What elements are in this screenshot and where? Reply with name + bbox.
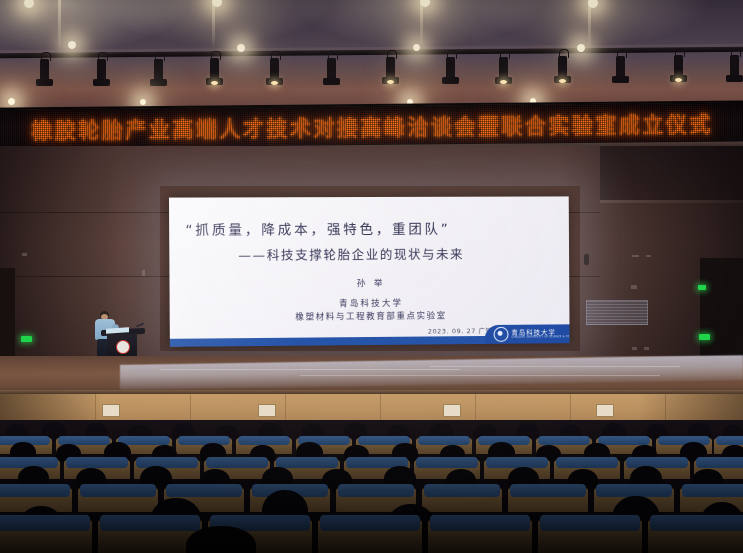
wall-fitting	[632, 255, 639, 257]
lamp-body	[558, 56, 567, 78]
stage-spotlight	[325, 56, 338, 90]
seat-cushion	[556, 457, 618, 468]
seat-cushion	[540, 515, 640, 531]
lamp-glow	[675, 78, 682, 82]
led-banner: 橡胶轮胎产业高端人才技术对接高峰洽谈会暨联合实验室成立仪式	[0, 100, 743, 151]
ceiling-spot-light	[577, 44, 585, 52]
seat-cushion	[0, 515, 90, 531]
seat-cushion	[430, 515, 530, 531]
seat-cushion	[416, 457, 478, 468]
stage-spotlight	[38, 57, 51, 91]
seat-cushion	[538, 436, 590, 445]
presentation-slide: “抓质量，降成本，强特色，重团队” ——科技支撑轮胎企业的现状与未来 孙 举 青…	[169, 196, 570, 346]
stage-spotlight	[384, 55, 397, 89]
floor-streak	[300, 375, 660, 376]
seat-cushion	[136, 457, 198, 468]
seat-cushion	[486, 457, 548, 468]
lamp-lens	[36, 79, 53, 86]
stage-spotlight	[728, 53, 741, 87]
projection-screen: “抓质量，降成本，强特色，重团队” ——科技支撑轮胎企业的现状与未来 孙 举 青…	[169, 196, 570, 346]
seat-cushion	[696, 457, 743, 468]
seat-cushion	[510, 484, 586, 497]
light-beam	[58, 0, 61, 52]
seat-cushion	[338, 484, 414, 497]
seat-cushion	[178, 436, 230, 445]
exit-sign-icon	[699, 334, 710, 340]
lamp-body	[270, 58, 279, 80]
seat-cushion	[716, 436, 743, 445]
stage-spotlight	[497, 55, 510, 89]
qust-logo-icon	[494, 327, 509, 342]
slide-date-location: 2023. 09. 27 广饶	[428, 325, 493, 336]
lamp-body	[97, 59, 106, 81]
ceiling-spot-light	[237, 44, 245, 52]
seat-cushion	[0, 484, 70, 497]
stage-spotlight	[152, 57, 165, 91]
wall-fitting	[22, 253, 27, 256]
exit-sign-icon	[21, 336, 32, 342]
stage-spotlight	[95, 57, 108, 91]
lamp-glow	[500, 80, 507, 84]
lamp-glow	[211, 81, 218, 85]
ceiling-spot-light	[140, 99, 146, 105]
lamp-body	[154, 59, 163, 81]
lamp-lens	[150, 79, 167, 86]
wall-fitting	[644, 347, 649, 350]
seat-cushion	[598, 436, 650, 445]
wall-fitting	[631, 285, 637, 289]
seat-cushion	[66, 457, 128, 468]
light-beam	[420, 0, 423, 50]
lamp-body	[386, 57, 395, 79]
lamp-body	[730, 55, 739, 77]
exit-sign-icon	[698, 285, 706, 290]
seat-cushion	[276, 457, 338, 468]
seat-cushion	[424, 484, 500, 497]
ceiling-spot-light	[68, 41, 76, 49]
ceiling-spot-light	[413, 44, 420, 51]
floor-streak	[160, 369, 460, 370]
lamp-lens	[323, 78, 340, 85]
stage-spotlight	[672, 53, 685, 87]
seat-cushion	[320, 515, 420, 531]
seat-cushion	[206, 457, 268, 468]
logo-text-block: 青岛科技大学 QINGDAO UNIVERSITY OF SCIENCE & T…	[511, 329, 569, 339]
lamp-glow	[387, 80, 394, 84]
logo-name-en: QINGDAO UNIVERSITY OF SCIENCE & TECHNOLO…	[511, 336, 569, 339]
lectern-crest-icon	[116, 340, 130, 354]
seat-cushion	[682, 484, 743, 497]
lamp-lens	[442, 77, 459, 84]
seat-cushion	[100, 515, 200, 531]
lamp-body	[499, 57, 508, 79]
slide-laboratory: 橡塑材料与工程教育部重点实验室	[170, 308, 570, 323]
ceiling-spot-light	[8, 98, 15, 105]
seat-cushion	[650, 515, 743, 531]
wall-fitting	[142, 270, 145, 276]
lamp-body	[674, 55, 683, 77]
ceiling	[0, 0, 743, 118]
wall-air-vent	[586, 300, 648, 325]
lamp-body	[616, 56, 625, 78]
stage-right-doorway	[700, 258, 743, 363]
seat-cushion	[80, 484, 156, 497]
wall-speaker	[584, 254, 589, 265]
wall-fitting	[632, 347, 637, 350]
lamp-body	[210, 58, 219, 80]
lamp-body	[40, 59, 49, 81]
light-beam	[212, 0, 215, 50]
university-logo: 青岛科技大学 QINGDAO UNIVERSITY OF SCIENCE & T…	[485, 324, 570, 344]
lamp-glow	[559, 79, 566, 83]
wall-fitting	[646, 255, 651, 257]
floor-streak	[430, 366, 680, 367]
ceiling-light-wash	[0, 0, 743, 118]
seat-cushion	[238, 436, 290, 445]
auditorium-scene: 橡胶轮胎产业高端人才技术对接高峰洽谈会暨联合实验室成立仪式 “抓质量，降成本，强…	[0, 0, 743, 553]
lamp-lens	[93, 79, 110, 86]
slide-subtitle: ——科技支撑轮胎企业的现状与未来	[238, 244, 464, 264]
lamp-body	[327, 58, 336, 80]
seat-cushion	[418, 436, 470, 445]
seat-cushion	[626, 457, 688, 468]
stage-spotlight	[444, 55, 457, 89]
audience-area	[0, 420, 743, 553]
slide-headline: “抓质量，降成本，强特色，重团队”	[185, 218, 450, 239]
stage-spotlight	[268, 56, 281, 90]
slide-author: 孙 举	[169, 276, 569, 291]
stage-spotlight	[614, 54, 627, 88]
stage-spotlight	[208, 56, 221, 90]
led-banner-text: 橡胶轮胎产业高端人才技术对接高峰洽谈会暨联合实验室成立仪式	[31, 107, 713, 145]
stage-spotlight	[556, 54, 569, 88]
lamp-lens	[612, 76, 629, 83]
lamp-lens	[726, 75, 743, 82]
lamp-glow	[271, 81, 278, 85]
lamp-body	[446, 57, 455, 79]
stage-left-doorway	[0, 268, 15, 363]
seat-cushion	[166, 484, 242, 497]
